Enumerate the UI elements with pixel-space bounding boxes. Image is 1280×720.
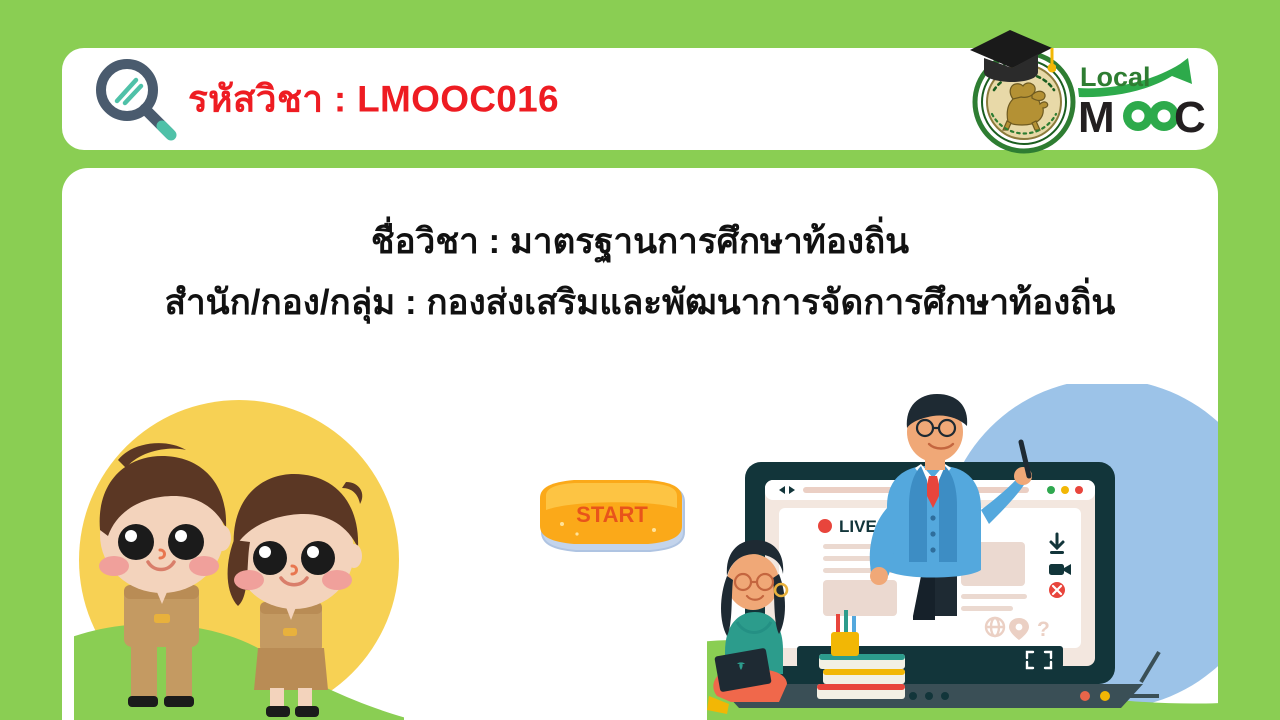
close-circle-icon <box>1049 582 1065 598</box>
students-illustration <box>74 390 404 720</box>
start-button[interactable]: START <box>532 476 692 554</box>
department-line: สำนัก/กอง/กลุ่ม : กองส่งเสริมและพัฒนาการ… <box>62 277 1218 330</box>
graduation-cap-icon <box>964 24 1056 86</box>
svg-text:Local: Local <box>1080 62 1151 92</box>
live-dot-icon <box>818 519 832 533</box>
svg-text:M: M <box>1078 93 1115 140</box>
question-mark-icon: ? <box>1037 618 1050 641</box>
svg-text:C: C <box>1174 93 1206 140</box>
live-badge-label: LIVE <box>839 517 877 536</box>
subject-name-line: ชื่อวิชา : มาตรฐานการศึกษาท้องถิ่น <box>62 216 1218 269</box>
local-mooc-wordmark: Local M C <box>1076 54 1206 140</box>
online-class-illustration: LIVE <box>707 384 1218 720</box>
magnifier-icon <box>90 56 182 144</box>
content-card: ชื่อวิชา : มาตรฐานการศึกษาท้องถิ่น สำนัก… <box>62 168 1218 720</box>
course-code-title: รหัสวิชา : LMOOC016 <box>188 70 559 129</box>
start-button-label: START <box>576 502 648 527</box>
local-mooc-logo: Local M C <box>968 32 1208 158</box>
header-card: รหัสวิชา : LMOOC016 <box>62 48 1218 150</box>
slide-background: รหัสวิชา : LMOOC016 <box>0 0 1280 720</box>
books-stack <box>817 654 905 699</box>
course-info-block: ชื่อวิชา : มาตรฐานการศึกษาท้องถิ่น สำนัก… <box>62 216 1218 329</box>
